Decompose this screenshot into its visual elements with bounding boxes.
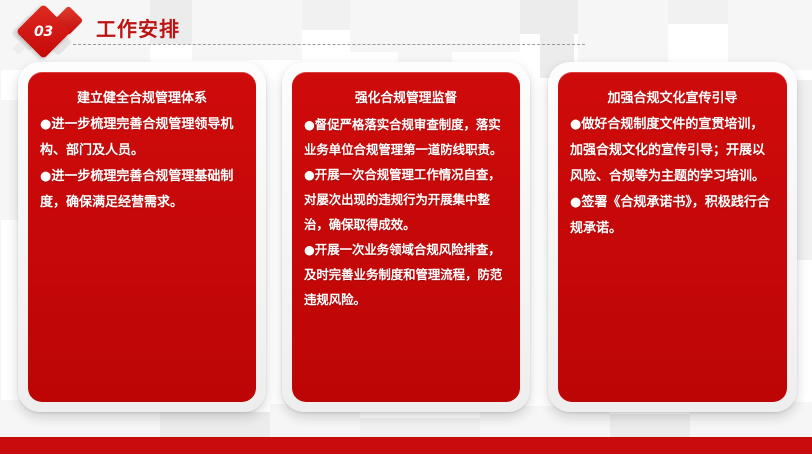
card-3-paragraph-2: ●签署《合规承诺书》，积极践行合规承诺。 [570, 190, 775, 242]
card-3-inner-panel: 加强合规文化宣传引导 ●做好合规制度文件的宣贯培训，加强合规文化的宣传引导；开展… [558, 72, 787, 402]
content-card-2: 强化合规管理监督 ●督促严格落实合规审查制度，落实业务单位合规管理第一道防线职责… [282, 62, 530, 412]
card-2-inner-panel: 强化合规管理监督 ●督促严格落实合规审查制度，落实业务单位合规管理第一道防线职责… [292, 72, 520, 402]
card-2-paragraph-3: ●开展一次业务领域合规风险排查，及时完善业务制度和管理流程，防范违规风险。 [304, 237, 508, 312]
section-number-badge: 03 [24, 12, 63, 51]
bottom-accent-bar [0, 437, 812, 454]
card-3-paragraph-1: ●做好合规制度文件的宣贯培训，加强合规文化的宣传引导；开展以风险、合规等为主题的… [570, 112, 775, 190]
card-1-body: ●进一步梳理完善合规管理领导机构、部门及人员。 ●进一步梳理完善合规管理基础制度… [40, 112, 244, 216]
card-1-paragraph-1: ●进一步梳理完善合规管理领导机构、部门及人员。 [40, 112, 244, 164]
card-1-heading: 建立健全合规管理体系 [40, 88, 244, 110]
card-1-inner-panel: 建立健全合规管理体系 ●进一步梳理完善合规管理领导机构、部门及人员。 ●进一步梳… [28, 72, 256, 402]
card-2-heading: 强化合规管理监督 [304, 88, 508, 110]
slide-canvas: 03 工作安排 建立健全合规管理体系 ●进一步梳理完善合规管理领导机构、部门及人… [0, 0, 812, 454]
card-3-heading: 加强合规文化宣传引导 [570, 88, 775, 110]
card-1-paragraph-2: ●进一步梳理完善合规管理基础制度，确保满足经营需求。 [40, 164, 244, 216]
content-card-1: 建立健全合规管理体系 ●进一步梳理完善合规管理领导机构、部门及人员。 ●进一步梳… [18, 62, 266, 412]
content-card-3: 加强合规文化宣传引导 ●做好合规制度文件的宣贯培训，加强合规文化的宣传引导；开展… [548, 62, 797, 412]
card-2-paragraph-1: ●督促严格落实合规审查制度，落实业务单位合规管理第一道防线职责。 [304, 112, 508, 162]
content-cards: 建立健全合规管理体系 ●进一步梳理完善合规管理领导机构、部门及人员。 ●进一步梳… [0, 0, 812, 454]
card-2-body: ●督促严格落实合规审查制度，落实业务单位合规管理第一道防线职责。 ●开展一次合规… [304, 112, 508, 312]
card-3-body: ●做好合规制度文件的宣贯培训，加强合规文化的宣传引导；开展以风险、合规等为主题的… [570, 112, 775, 242]
card-2-paragraph-2: ●开展一次合规管理工作情况自查，对屡次出现的违规行为开展集中整治，确保取得成效。 [304, 162, 508, 237]
